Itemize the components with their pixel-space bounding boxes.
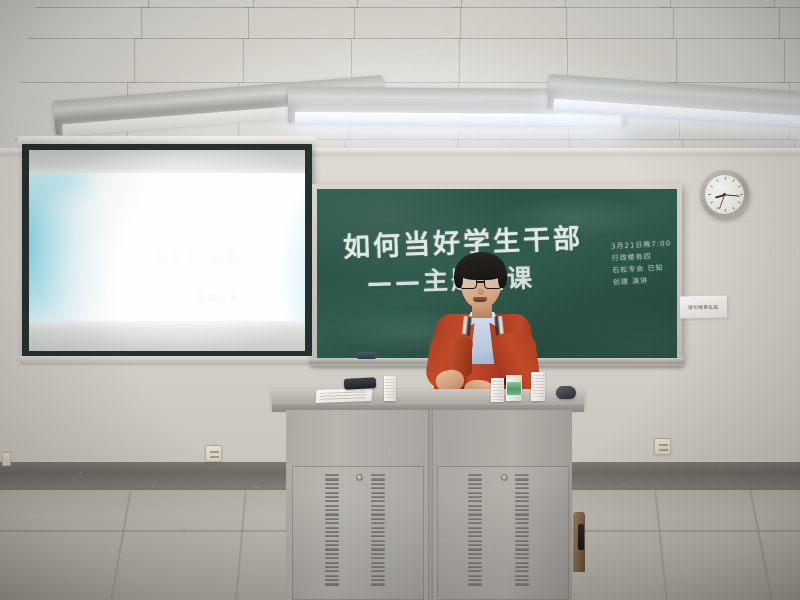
podium-louver-slat [371, 492, 385, 494]
podium-louver-slat [325, 509, 339, 511]
ceiling-tile [559, 8, 673, 39]
podium-louver-slat [325, 566, 339, 568]
podium-vent-4 [515, 474, 529, 586]
podium-louver-slat [371, 513, 385, 515]
podium-louver-slat [325, 478, 339, 480]
ceiling-tile [348, 0, 462, 8]
podium-louver-slat [515, 474, 529, 476]
podium-louver-slat [325, 540, 339, 542]
podium-louver-slat [468, 562, 482, 564]
ceiling-tile [28, 8, 142, 39]
podium-louver-slat [371, 553, 385, 555]
wall-outlet-left[interactable] [205, 445, 222, 462]
ceiling-tile [35, 0, 149, 8]
computer-mouse[interactable] [556, 386, 576, 399]
podium-louver-slat [515, 531, 529, 533]
ceiling-tile [666, 8, 780, 39]
clock-tick-mark [710, 185, 713, 187]
podium-louver-slat [325, 575, 339, 577]
podium-louver-slat [468, 575, 482, 577]
podium-louver-slat [468, 483, 482, 485]
projection-screen-bottom-bar [20, 356, 315, 365]
podium-louver-slat [515, 562, 529, 564]
ceiling-tile [772, 8, 800, 39]
ceiling [0, 0, 800, 152]
podium-louver-slat [515, 478, 529, 480]
podium-louver-slat [468, 500, 482, 502]
ceiling-tile [453, 8, 567, 39]
podium-louver-slat [468, 505, 482, 507]
water-bottle[interactable] [506, 375, 522, 401]
ceiling-tile [238, 39, 352, 83]
podium-door-right[interactable] [437, 466, 569, 600]
clock-tick-mark [732, 207, 734, 210]
podium-louver-slat [468, 535, 482, 537]
ceiling-tile [139, 0, 253, 8]
podium-louver-slat [371, 583, 385, 585]
podium-louver-slat [325, 518, 339, 520]
clock-tick-mark [710, 201, 713, 203]
podium-louver-slat [515, 518, 529, 520]
podium-lock-right[interactable] [501, 474, 508, 481]
podium-louver-slat [325, 553, 339, 555]
podium-louver-slat [371, 474, 385, 476]
podium-louver-slat [515, 500, 529, 502]
podium-louver-slat [468, 518, 482, 520]
wall-outlet-right[interactable] [654, 438, 671, 455]
hair-side-right [498, 264, 507, 288]
podium-louver-slat [515, 540, 529, 542]
podium-louver-slat [468, 553, 482, 555]
podium-louver-slat [468, 478, 482, 480]
podium-louver-slat [325, 492, 339, 494]
podium-louver-slat [325, 513, 339, 515]
podium-louver-slat [515, 527, 529, 529]
clock-tick-mark [725, 177, 726, 180]
podium-louver-slat [468, 522, 482, 524]
fire-extinguisher-handle[interactable] [578, 524, 584, 550]
podium-louver-slat [325, 535, 339, 537]
podium-louver-slat [371, 505, 385, 507]
podium-louver-slat [515, 566, 529, 568]
podium-louver-slat [515, 505, 529, 507]
podium-louver-slat [371, 544, 385, 546]
podium-louver-slat [468, 474, 482, 476]
podium-louver-slat [371, 527, 385, 529]
ceiling-tile [765, 0, 800, 8]
podium-louver-slat [371, 579, 385, 581]
podium-door-left[interactable] [292, 466, 424, 600]
podium-louver-slat [325, 531, 339, 533]
podium-louver-slat [515, 487, 529, 489]
wall-outlet-far-left[interactable] [2, 452, 11, 466]
podium-louver-slat [325, 557, 339, 559]
podium-louver-slat [325, 570, 339, 572]
clock-tick-mark [708, 194, 711, 195]
paper-cup-right[interactable] [531, 372, 545, 401]
stack-of-papers[interactable] [315, 388, 372, 403]
podium-louver-slat [371, 566, 385, 568]
wall-clock [700, 170, 749, 219]
podium-louver-slat [468, 487, 482, 489]
slide-ghost-subtitle: 主题团课 [197, 292, 239, 303]
ceiling-tile [452, 0, 566, 8]
podium-vent-3 [468, 474, 482, 586]
podium-louver-slat [515, 575, 529, 577]
podium-louver-slat [468, 513, 482, 515]
podium-louver-slat [371, 518, 385, 520]
podium-louver-slat [515, 553, 529, 555]
clock-tick-mark [732, 179, 734, 182]
podium-louver-slat [371, 540, 385, 542]
podium-louver-slat [468, 566, 482, 568]
podium-louver-slat [325, 527, 339, 529]
podium-louver-slat [515, 483, 529, 485]
podium-louver-slat [515, 570, 529, 572]
podium-louver-slat [515, 548, 529, 550]
podium-louver-slat [371, 562, 385, 564]
podium-louver-slat [371, 575, 385, 577]
wall-sign-text: 请勿随意乱贴 [688, 303, 719, 310]
classroom-photo: 学生干部培养 主题团课 如何当好学生干部 ——主题团课 3月21日晚7:00 行… [0, 0, 800, 600]
podium-louver-slat [515, 579, 529, 581]
podium-louver-slat [468, 509, 482, 511]
podium-louver-slat [325, 474, 339, 476]
podium-louver-slat [371, 496, 385, 498]
clock-minute-hand [724, 194, 739, 197]
ceiling-tile [21, 39, 135, 83]
podium-louver-slat [515, 535, 529, 537]
slide-ghost-title: 学生干部培养 [157, 250, 241, 266]
clock-tick-mark [737, 185, 740, 187]
podium-louver-slat [468, 544, 482, 546]
podium-louver-slat [468, 527, 482, 529]
podium-louver-slat [468, 492, 482, 494]
podium-louver-slat [468, 540, 482, 542]
ceiling-tile [347, 8, 461, 39]
podium-louver-slat [468, 579, 482, 581]
paper-cup-center[interactable] [491, 378, 504, 402]
podium-louver-slat [515, 583, 529, 585]
ceiling-tile [241, 8, 355, 39]
podium-vent-1 [325, 474, 339, 586]
mouth [473, 297, 487, 302]
podium-louver-slat [515, 522, 529, 524]
podium-louver-slat [325, 500, 339, 502]
podium-louver-slat [325, 544, 339, 546]
podium-louver-slat [325, 496, 339, 498]
podium-louver-slat [371, 487, 385, 489]
ceiling-tile [134, 8, 248, 39]
podium-louver-slat [325, 505, 339, 507]
ceiling-tile [661, 0, 775, 8]
podium-louver-slat [371, 483, 385, 485]
blackboard-eraser [357, 352, 376, 359]
podium-louver-slat [371, 478, 385, 480]
podium-louver-slat [468, 583, 482, 585]
podium-louver-slat [325, 483, 339, 485]
nose [478, 288, 484, 295]
presenter [418, 252, 548, 402]
clock-tick-mark [740, 194, 743, 195]
remote-control[interactable] [344, 377, 377, 390]
clock-tick-mark [737, 201, 740, 203]
podium-louver-slat [468, 496, 482, 498]
podium-louver-slat [325, 548, 339, 550]
ceiling-tile [779, 39, 800, 83]
podium-louver-slat [515, 513, 529, 515]
podium-louver-slat [325, 583, 339, 585]
hair-side-left [454, 264, 463, 288]
clock-tick-mark [725, 209, 726, 212]
podium-louver-slat [325, 522, 339, 524]
podium-louver-slat [371, 531, 385, 533]
podium-louver-slat [371, 500, 385, 502]
podium-louver-slat [515, 509, 529, 511]
podium-louver-slat [371, 509, 385, 511]
projection-screen: 学生干部培养 主题团课 [22, 144, 312, 358]
ceiling-tile [129, 39, 243, 83]
podium-louver-slat [371, 570, 385, 572]
podium-louver-slat [371, 522, 385, 524]
ceiling-tile [556, 0, 670, 8]
podium-louver-slat [468, 557, 482, 559]
podium-louver-slat [325, 487, 339, 489]
podium-center-divider [428, 410, 433, 600]
podium-louver-slat [515, 492, 529, 494]
podium-louver-slat [371, 557, 385, 559]
podium-louver-slat [325, 579, 339, 581]
podium-louver-slat [515, 557, 529, 559]
ceiling-tile [244, 0, 358, 8]
ceiling-tile [671, 39, 785, 83]
podium-louver-slat [371, 548, 385, 550]
blackboard-note-line: 创建 演讲 [613, 273, 674, 288]
podium-louver-slat [515, 544, 529, 546]
blackboard-side-notes: 3月21日晚7:00 行政楼有四 石松专会 已知 创建 演讲 [611, 237, 674, 288]
podium-louver-slat [515, 496, 529, 498]
podium-lock-left[interactable] [356, 474, 363, 481]
podium-louver-slat [371, 535, 385, 537]
wall-notice-sign: 请勿随意乱贴 [680, 296, 727, 319]
podium-louver-slat [468, 531, 482, 533]
podium-louver-slat [468, 548, 482, 550]
podium-louver-slat [468, 570, 482, 572]
podium-louver-slat [325, 562, 339, 564]
podium-vent-2 [371, 474, 385, 586]
clock-tick-mark [716, 179, 718, 182]
paper-cup-left[interactable] [384, 376, 396, 401]
